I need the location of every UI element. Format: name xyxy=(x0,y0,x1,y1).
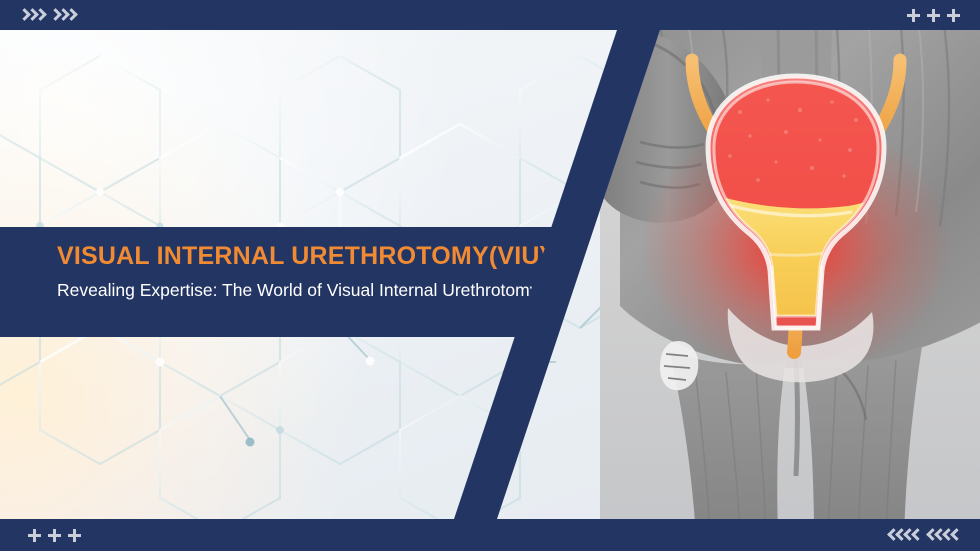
chevron-left-group xyxy=(889,529,919,542)
chevron-left-icon xyxy=(889,529,895,542)
top-right-decoration xyxy=(907,0,960,30)
plus-icon xyxy=(947,9,960,22)
banner-stage: VISUAL INTERNAL URETHROTOMY(VIU) Reveali… xyxy=(0,30,980,519)
plus-icon xyxy=(907,9,920,22)
chevron-left-icon xyxy=(944,529,950,542)
chevron-left-icon xyxy=(897,529,903,542)
chevron-left-icon xyxy=(913,529,919,542)
chevron-left-group xyxy=(928,529,958,542)
chevron-right-icon xyxy=(51,9,57,22)
chevron-right-icon xyxy=(20,9,26,22)
bottom-bar xyxy=(0,519,980,551)
chevron-right-icon xyxy=(67,9,73,22)
bottom-right-decoration xyxy=(889,519,958,551)
patient-photo xyxy=(600,30,980,519)
chevron-right-icon xyxy=(59,9,65,22)
chevron-right-icon xyxy=(36,9,42,22)
plus-group xyxy=(907,9,960,22)
chevron-right-group xyxy=(20,9,42,22)
chevron-right-icon xyxy=(28,9,34,22)
title-band: VISUAL INTERNAL URETHROTOMY(VIU) Reveali… xyxy=(0,227,600,337)
plus-icon xyxy=(48,529,61,542)
plus-icon xyxy=(68,529,81,542)
chevron-left-icon xyxy=(952,529,958,542)
chevron-left-icon xyxy=(936,529,942,542)
plus-icon xyxy=(927,9,940,22)
chevron-left-icon xyxy=(928,529,934,542)
plus-icon xyxy=(28,529,41,542)
viu-banner: VISUAL INTERNAL URETHROTOMY(VIU) Reveali… xyxy=(0,0,980,551)
top-bar xyxy=(0,0,980,30)
page-subtitle: Revealing Expertise: The World of Visual… xyxy=(57,278,542,303)
chevron-left-icon xyxy=(905,529,911,542)
bottom-left-decoration xyxy=(28,519,81,551)
top-left-decoration xyxy=(20,0,73,30)
page-title: VISUAL INTERNAL URETHROTOMY(VIU) xyxy=(57,243,600,269)
chevron-right-group xyxy=(51,9,73,22)
plus-group xyxy=(28,529,81,542)
